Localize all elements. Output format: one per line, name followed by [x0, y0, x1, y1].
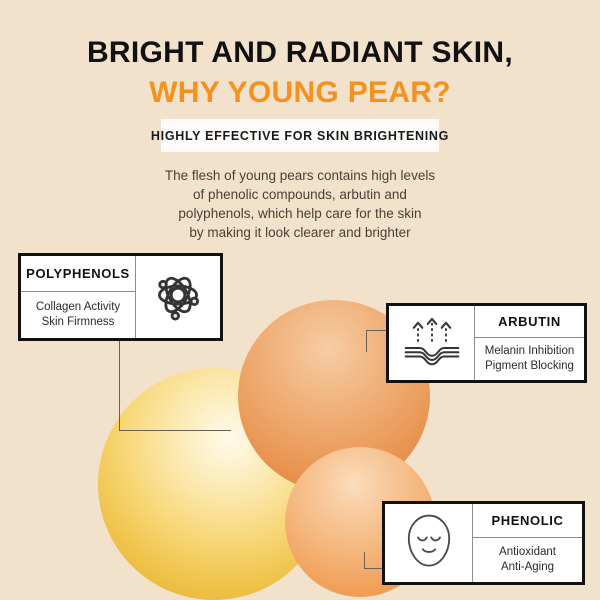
- card-arbutin-title: ARBUTIN: [475, 306, 584, 337]
- card-polyphenols-title: POLYPHENOLS: [21, 256, 135, 291]
- subtitle-banner: HIGHLY EFFECTIVE FOR SKIN BRIGHTENING: [161, 119, 439, 152]
- card-polyphenols-benefit-2: Skin Firmness: [42, 315, 115, 330]
- connector-arbutin-vertical: [366, 330, 367, 352]
- card-phenolic-benefit-2: Anti-Aging: [501, 560, 554, 575]
- card-phenolic-icon-column: [385, 504, 473, 582]
- headline-line-2: WHY YOUNG PEAR?: [0, 78, 600, 108]
- card-phenolic-title: PHENOLIC: [473, 504, 582, 537]
- card-polyphenols-benefits: Collagen Activity Skin Firmness: [21, 292, 135, 338]
- card-arbutin-text-column: ARBUTIN Melanin Inhibition Pigment Block…: [475, 306, 584, 380]
- card-arbutin-benefit-2: Pigment Blocking: [485, 359, 574, 374]
- atom-icon: [149, 266, 207, 329]
- page-title: BRIGHT AND RADIANT SKIN, WHY YOUNG PEAR?: [0, 38, 600, 108]
- card-polyphenols-text-column: POLYPHENOLS Collagen Activity Skin Firmn…: [21, 256, 136, 338]
- skin-layers-arrows-icon: [401, 315, 463, 372]
- card-polyphenols[interactable]: POLYPHENOLS Collagen Activity Skin Firmn…: [18, 253, 223, 341]
- card-polyphenols-benefit-1: Collagen Activity: [36, 300, 120, 315]
- infographic-canvas: BRIGHT AND RADIANT SKIN, WHY YOUNG PEAR?…: [0, 0, 600, 600]
- connector-polyphenols-horizontal: [119, 430, 231, 431]
- connector-arbutin-horizontal: [366, 330, 388, 331]
- body-paragraph: The flesh of young pears contains high l…: [120, 166, 480, 242]
- connector-phenolic-vertical: [364, 552, 365, 569]
- card-polyphenols-icon-column: [136, 256, 220, 338]
- card-phenolic-benefit-1: Antioxidant: [499, 545, 556, 560]
- body-line-4: by making it look clearer and brighter: [120, 223, 480, 242]
- calm-face-icon: [404, 512, 454, 575]
- card-phenolic-text-column: PHENOLIC Antioxidant Anti-Aging: [473, 504, 582, 582]
- card-arbutin[interactable]: ARBUTIN Melanin Inhibition Pigment Block…: [386, 303, 587, 383]
- headline-line-1: BRIGHT AND RADIANT SKIN,: [0, 38, 600, 68]
- card-arbutin-icon-column: [389, 306, 475, 380]
- body-line-2: of phenolic compounds, arbutin and: [120, 185, 480, 204]
- card-arbutin-benefit-1: Melanin Inhibition: [485, 344, 575, 359]
- body-line-1: The flesh of young pears contains high l…: [120, 166, 480, 185]
- card-phenolic[interactable]: PHENOLIC Antioxidant Anti-Aging: [382, 501, 585, 585]
- body-line-3: polyphenols, which help care for the ski…: [120, 204, 480, 223]
- card-arbutin-benefits: Melanin Inhibition Pigment Blocking: [475, 338, 584, 380]
- card-phenolic-benefits: Antioxidant Anti-Aging: [473, 538, 582, 582]
- connector-polyphenols-vertical: [119, 341, 120, 431]
- subtitle-text: HIGHLY EFFECTIVE FOR SKIN BRIGHTENING: [151, 129, 449, 143]
